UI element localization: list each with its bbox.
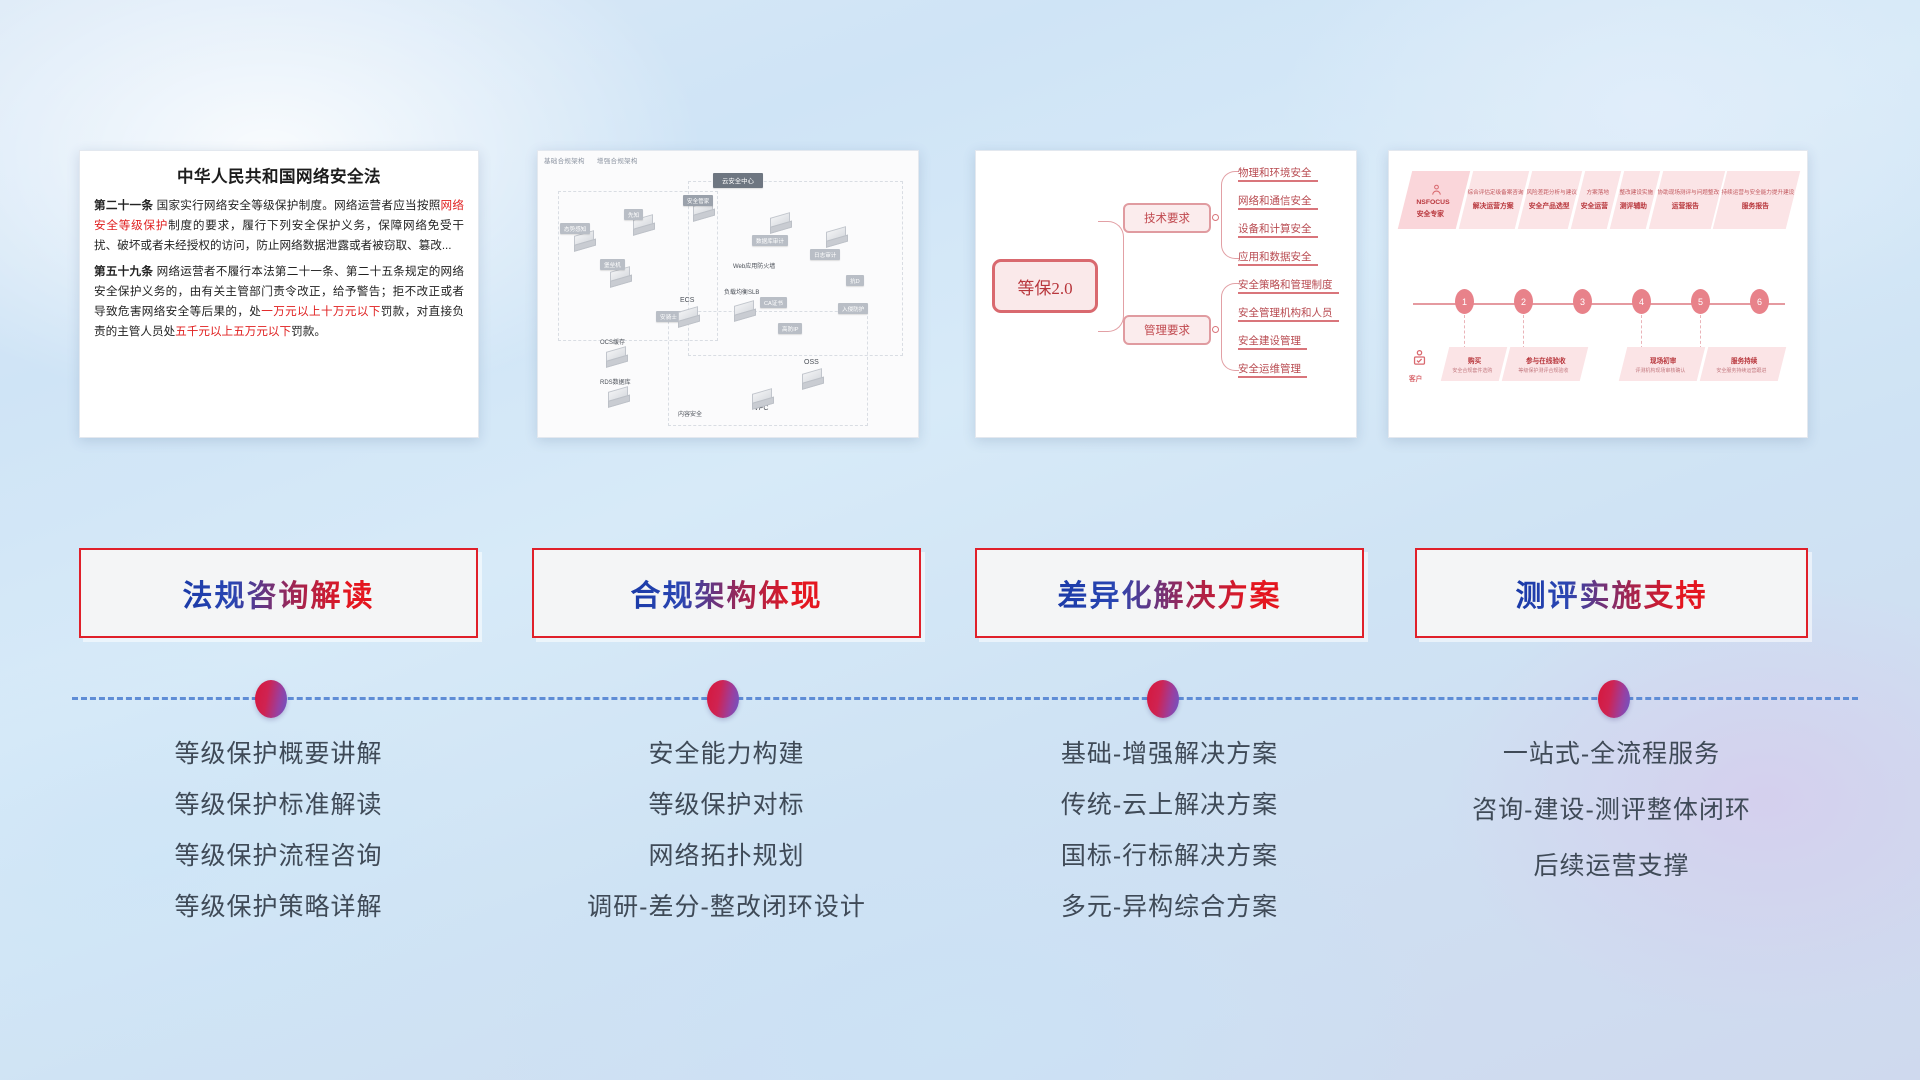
timeline-phase-3-title: 安全运营	[1581, 200, 1608, 210]
timeline-bullet-3[interactable]	[1147, 680, 1179, 718]
arch-node-xianzhi: 先知	[624, 209, 643, 220]
timeline-phase-6-sub: 持续运营与安全能力提升建设	[1722, 190, 1795, 198]
timeline-phase-6: 持续运营与安全能力提升建设 服务报告	[1713, 171, 1800, 229]
service-timeline-canvas: NSFOCUS 安全专家 综合评估定级备案咨询 解决运营方案 风险差距分析与建议…	[1389, 151, 1807, 437]
list-item: 网络拓扑规划	[532, 844, 921, 869]
mindmap-curve-management	[1221, 283, 1239, 371]
mindmap-leaf-device: 设备和计算安全	[1238, 221, 1312, 238]
mindmap-leaf-construction: 安全建设管理	[1238, 333, 1301, 350]
timeline-step-6: 6	[1750, 289, 1769, 314]
list-item: 咨询-建设-测评整体闭环	[1415, 798, 1808, 823]
timeline-footer-1: 购买 安全合规套件选购	[1441, 347, 1507, 381]
arch-node-situation: 态势感知	[560, 223, 590, 234]
timeline-phase-1: 综合评估定级备案咨询 解决运营方案	[1459, 171, 1529, 229]
timeline-footer-4-sub: 安全服务持续运营跟进	[1716, 367, 1766, 374]
timeline-phase-4-sub: 整改建设实施	[1620, 190, 1654, 198]
law-text-card: 中华人民共和国网络安全法 第二十一条 国家实行网络安全等级保护制度。网络运营者应…	[79, 150, 479, 438]
timeline-phase-3-sub: 方案落地	[1586, 190, 1608, 198]
pillar-detail-column-4: 一站式-全流程服务 咨询-建设-测评整体闭环 后续运营支撑	[1415, 742, 1808, 910]
mindmap-card: 等保2.0 技术要求 管理要求 物理和环境安全 网络和通信安全 设备和计算安全 …	[975, 150, 1357, 438]
mindmap-root-node: 等保2.0	[992, 259, 1098, 313]
pillar-title-box-1[interactable]: 法规咨询解读	[79, 548, 478, 638]
list-item: 调研-差分-整改闭环设计	[532, 895, 921, 920]
pillar-title-box-2[interactable]: 合规架构体现	[532, 548, 921, 638]
service-timeline-card: NSFOCUS 安全专家 综合评估定级备案咨询 解决运营方案 风险差距分析与建议…	[1388, 150, 1808, 438]
architecture-diagram-card: 基础合规架构 增强合规架构 云安全中心 安全管家 先知 态势感知 堡垒机 数据库…	[537, 150, 919, 438]
pillar-title-3: 差异化解决方案	[1058, 571, 1282, 615]
mindmap-leaf-policy: 安全策略和管理制度	[1238, 277, 1333, 294]
list-item: 一站式-全流程服务	[1415, 742, 1808, 767]
mindmap-leaf-network: 网络和通信安全	[1238, 193, 1312, 210]
list-item: 后续运营支撑	[1415, 854, 1808, 879]
law-body: 中华人民共和国网络安全法 第二十一条 国家实行网络安全等级保护制度。网络运营者应…	[80, 151, 478, 358]
list-item: 等级保护标准解读	[79, 793, 478, 818]
customer-label: 客户	[1409, 373, 1422, 383]
list-item: 等级保护对标	[532, 793, 921, 818]
arch-node-ca: CA证书	[760, 297, 787, 308]
law-article-21: 第二十一条 国家实行网络安全等级保护制度。网络运营者应当按照网络安全等级保护制度…	[94, 196, 464, 256]
arch-cube-i	[606, 346, 626, 365]
timeline-step-4: 4	[1632, 289, 1651, 314]
pillar-title-1: 法规咨询解读	[183, 571, 375, 615]
arch-node-bastion: 堡垒机	[600, 259, 625, 270]
mindmap-leaf-application: 应用和数据安全	[1238, 249, 1312, 266]
timeline-phase-2-sub: 风险差距分析与建议	[1526, 190, 1576, 198]
image-card-row: 中华人民共和国网络安全法 第二十一条 国家实行网络安全等级保护制度。网络运营者应…	[0, 150, 1920, 440]
arch-node-log-audit: 日志审计	[810, 249, 840, 260]
article-59-text-c: 罚款。	[291, 325, 326, 338]
architecture-header-tags: 基础合规架构 增强合规架构	[544, 155, 648, 165]
arch-node-antid: 抗D	[846, 275, 864, 286]
timeline-dash-1	[1464, 315, 1465, 349]
timeline-footer-2-title: 参与在线验收	[1526, 355, 1566, 365]
timeline-step-5: 5	[1691, 289, 1710, 314]
mindmap-curve-technical	[1221, 171, 1239, 259]
list-item: 基础-增强解决方案	[975, 742, 1364, 767]
expert-person-icon	[1430, 183, 1444, 197]
timeline-phase-5-title: 运营报告	[1672, 200, 1699, 210]
pillar-detail-column-1: 等级保护概要讲解 等级保护标准解读 等级保护流程咨询 等级保护策略详解	[79, 742, 478, 946]
customer-person-icon	[1411, 347, 1428, 367]
timeline-footer-3: 现场初审 评测机构现场审核确认	[1619, 347, 1705, 381]
timeline-bullet-4[interactable]	[1598, 680, 1630, 718]
pillar-detail-column-2: 安全能力构建 等级保护对标 网络拓扑规划 调研-差分-整改闭环设计	[532, 742, 921, 946]
arch-node-rds: RDS数据库	[600, 377, 631, 386]
timeline-step-1: 1	[1455, 289, 1474, 314]
arch-node-safe-butler: 安全管家	[683, 195, 713, 206]
arch-node-ips: 入侵防护	[838, 303, 868, 314]
list-item: 等级保护流程咨询	[79, 844, 478, 869]
list-item: 多元-异构综合方案	[975, 895, 1364, 920]
timeline-footer-1-title: 购买	[1469, 355, 1482, 365]
list-item: 安全能力构建	[532, 742, 921, 767]
timeline-footer-3-title: 现场初审	[1650, 355, 1676, 365]
mindmap-leaf-physical: 物理和环境安全	[1238, 165, 1312, 182]
pillar-title-box-4[interactable]: 测评实施支持	[1415, 548, 1808, 638]
timeline-phase-1-title: 解决运营方案	[1472, 200, 1513, 210]
timeline-phase-1-sub: 综合评估定级备案咨询	[1467, 190, 1523, 198]
timeline-phase-5-sub: 协助现场测评与问题整改	[1657, 190, 1719, 198]
pillar-detail-column-3: 基础-增强解决方案 传统-云上解决方案 国标-行标解决方案 多元-异构综合方案	[975, 742, 1364, 946]
timeline-brand: NSFOCUS	[1417, 199, 1450, 206]
article-21-text-a: 国家实行网络安全等级保护制度。网络运营者应当按照	[153, 199, 440, 212]
mindmap-connector-bottom	[1098, 286, 1124, 332]
arch-node-slb: 负载均衡SLB	[724, 287, 759, 296]
timeline-dash-4	[1641, 315, 1642, 349]
timeline-footer-4-title: 服务持续	[1731, 355, 1757, 365]
timeline-step-2: 2	[1514, 289, 1533, 314]
timeline-bullet-2[interactable]	[707, 680, 739, 718]
timeline-phase-5: 协助现场测评与问题整改 运营报告	[1648, 171, 1724, 229]
timeline-phase-4-title: 测评辅助	[1620, 200, 1647, 210]
timeline-phase-2-title: 安全产品选型	[1529, 200, 1570, 210]
pillar-title-4: 测评实施支持	[1516, 571, 1708, 615]
arch-node-ecs: ECS	[680, 297, 694, 304]
mindmap-leaf-org: 安全管理机构和人员	[1238, 305, 1333, 322]
timeline-dash-2	[1523, 315, 1524, 349]
architecture-canvas: 基础合规架构 增强合规架构 云安全中心 安全管家 先知 态势感知 堡垒机 数据库…	[538, 151, 918, 437]
timeline-footer-3-sub: 评测机构现场审核确认	[1635, 367, 1685, 374]
timeline-footer-2-sub: 等级保护测评合规验收	[1518, 367, 1568, 374]
law-article-59: 第五十九条 网络运营者不履行本法第二十一条、第二十五条规定的网络安全保护义务的，…	[94, 262, 464, 342]
timeline-footer-4: 服务持续 安全服务持续运营跟进	[1700, 347, 1786, 381]
arch-node-waf: Web应用防火墙	[733, 261, 775, 270]
article-59-highlight-a: 一万元以上十万元以下	[261, 305, 380, 318]
arch-cube-j	[608, 386, 628, 405]
timeline-footer-1-sub: 安全合规套件选购	[1452, 367, 1492, 374]
timeline-dashed-line	[72, 697, 1858, 700]
mindmap-dot-management	[1212, 326, 1219, 333]
article-21-label: 第二十一条	[94, 199, 153, 212]
arch-node-oss: OSS	[804, 359, 819, 366]
pillar-title-box-3[interactable]: 差异化解决方案	[975, 548, 1364, 638]
arch-node-ocs: OCS缓存	[600, 337, 625, 346]
article-59-label: 第五十九条	[94, 265, 153, 278]
timeline-footer-2: 参与在线验收 等级保护测评合规验收	[1502, 347, 1588, 381]
timeline-bullet-1[interactable]	[255, 680, 287, 718]
list-item: 国标-行标解决方案	[975, 844, 1364, 869]
list-item: 等级保护概要讲解	[79, 742, 478, 767]
list-item: 等级保护策略详解	[79, 895, 478, 920]
mindmap-leaf-ops: 安全运维管理	[1238, 361, 1301, 378]
mindmap-dot-technical	[1212, 214, 1219, 221]
timeline-role: 安全专家	[1417, 208, 1444, 218]
timeline-lead-block: NSFOCUS 安全专家	[1398, 171, 1470, 229]
arch-node-cloud: 云安全中心	[713, 173, 763, 188]
mindmap-branch-technical: 技术要求	[1123, 203, 1211, 233]
timeline-phase-6-title: 服务报告	[1742, 200, 1769, 210]
timeline-step-3: 3	[1573, 289, 1592, 314]
pillar-title-row: 法规咨询解读 合规架构体现 差异化解决方案 测评实施支持	[0, 548, 1920, 640]
pillar-title-2: 合规架构体现	[631, 571, 823, 615]
law-title: 中华人民共和国网络安全法	[94, 163, 464, 187]
arch-node-db-audit: 数据库审计	[752, 235, 788, 246]
arch-node-content-security: 内容安全	[678, 409, 702, 418]
article-59-highlight-b: 五千元以上五万元以下	[175, 325, 291, 338]
arch-tag-enhanced: 增强合规架构	[597, 158, 638, 165]
timeline-dash-5	[1700, 315, 1701, 349]
timeline-phase-band: NSFOCUS 安全专家 综合评估定级备案咨询 解决运营方案 风险差距分析与建议…	[1405, 171, 1793, 229]
mindmap-connector-top	[1098, 221, 1124, 287]
arch-node-highdefense-ip: 高防IP	[778, 323, 802, 334]
list-item: 传统-云上解决方案	[975, 793, 1364, 818]
slide-canvas: 中华人民共和国网络安全法 第二十一条 国家实行网络安全等级保护制度。网络运营者应…	[0, 0, 1920, 1080]
mindmap-branch-management: 管理要求	[1123, 315, 1211, 345]
arch-tag-basic: 基础合规架构	[544, 158, 585, 165]
mindmap-canvas: 等保2.0 技术要求 管理要求 物理和环境安全 网络和通信安全 设备和计算安全 …	[976, 151, 1356, 437]
